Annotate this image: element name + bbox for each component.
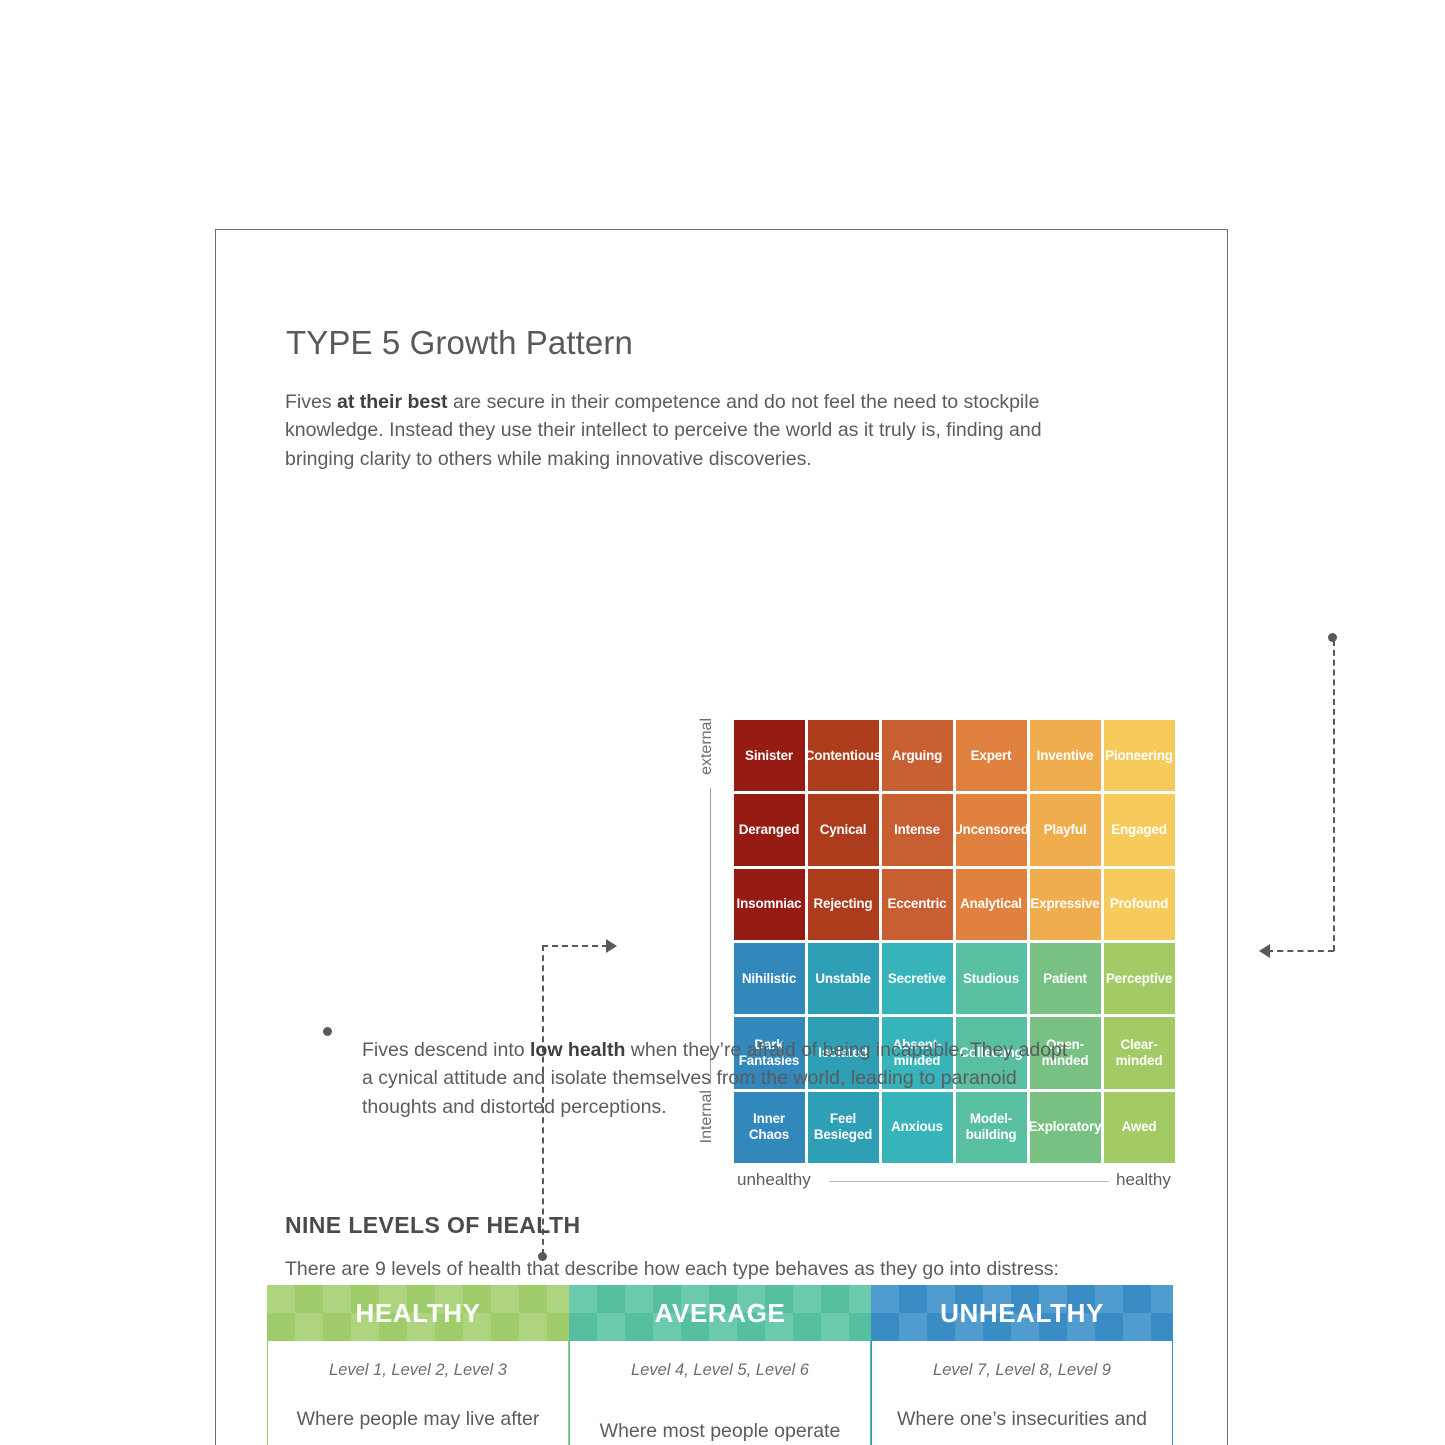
matrix-cell: Secretive [882, 943, 953, 1014]
matrix-cell: Sinister [734, 720, 805, 791]
levels-description-healthy: Where people may live after [268, 1406, 568, 1433]
nine-levels-table: HEALTHYLevel 1, Level 2, Level 3Where pe… [267, 1285, 1173, 1445]
low-health-paragraph: Fives descend into low health when they’… [362, 1036, 1072, 1122]
intro-lead: Fives [285, 391, 337, 413]
levels-range-average: Level 4, Level 5, Level 6 [570, 1361, 870, 1380]
levels-column-healthy: HEALTHYLevel 1, Level 2, Level 3Where pe… [267, 1285, 569, 1445]
x-axis-line [829, 1181, 1109, 1182]
matrix-cell: Profound [1104, 869, 1175, 940]
matrix-cell: Analytical [956, 869, 1027, 940]
low-health-bullet-icon [323, 1027, 332, 1036]
levels-description-unhealthy: Where one’s insecurities and [872, 1406, 1172, 1433]
matrix-cell: Insomniac [734, 869, 805, 940]
matrix-cell: Cynical [808, 794, 879, 865]
levels-description-average: Where most people operate [570, 1418, 870, 1445]
low-health-lead: Fives descend into [362, 1039, 530, 1061]
arrow-left-icon [1259, 944, 1270, 958]
matrix-cell: Intense [882, 794, 953, 865]
matrix-cell: Patient [1030, 943, 1101, 1014]
matrix-row: NihilisticUnstableSecretiveStudiousPatie… [732, 943, 1176, 1017]
connector-vertical-right [1333, 640, 1335, 951]
section-subtitle: There are 9 levels of health that descri… [285, 1258, 1059, 1281]
levels-body-healthy: Level 1, Level 2, Level 3Where people ma… [267, 1341, 569, 1445]
intro-paragraph: Fives at their best are secure in their … [285, 388, 1115, 474]
matrix-cell: Unstable [808, 943, 879, 1014]
matrix-cell: Deranged [734, 794, 805, 865]
matrix-cell: Playful [1030, 794, 1101, 865]
matrix-cell: Awed [1104, 1092, 1175, 1163]
page-title: TYPE 5 Growth Pattern [286, 324, 633, 362]
connector-horizontal-right [1267, 950, 1334, 952]
document-page: TYPE 5 Growth Pattern Fives at their bes… [215, 229, 1228, 1445]
matrix-cell: Arguing [882, 720, 953, 791]
arrow-right-icon [606, 939, 617, 953]
connector-horizontal-left [542, 945, 608, 947]
matrix-cell: Engaged [1104, 794, 1175, 865]
matrix-cell: Expert [956, 720, 1027, 791]
matrix-cell: Pioneering [1104, 720, 1175, 791]
matrix-cell: Clear- minded [1104, 1017, 1175, 1088]
levels-column-average: AVERAGELevel 4, Level 5, Level 6Where mo… [569, 1285, 871, 1445]
matrix-cell: Uncensored [956, 794, 1027, 865]
low-health-bold: low health [530, 1039, 625, 1061]
levels-body-unhealthy: Level 7, Level 8, Level 9Where one’s ins… [871, 1341, 1173, 1445]
levels-range-healthy: Level 1, Level 2, Level 3 [268, 1361, 568, 1380]
matrix-cell: Perceptive [1104, 943, 1175, 1014]
section-heading-nine-levels: NINE LEVELS OF HEALTH [285, 1212, 580, 1239]
axis-label-external: external [698, 718, 716, 775]
matrix-cell: Inventive [1030, 720, 1101, 791]
matrix-cell: Studious [956, 943, 1027, 1014]
levels-header-healthy: HEALTHY [267, 1285, 569, 1341]
levels-header-unhealthy: UNHEALTHY [871, 1285, 1173, 1341]
levels-header-average: AVERAGE [569, 1285, 871, 1341]
matrix-row: DerangedCynicalIntenseUncensoredPlayfulE… [732, 794, 1176, 868]
matrix-cell: Eccentric [882, 869, 953, 940]
matrix-cell: Rejecting [808, 869, 879, 940]
matrix-cell: Expressive [1030, 869, 1101, 940]
levels-body-average: Level 4, Level 5, Level 6Where most peop… [569, 1341, 871, 1445]
intro-bold: at their best [337, 391, 448, 413]
matrix-cell: Contentious [808, 720, 879, 791]
matrix-cell: Nihilistic [734, 943, 805, 1014]
levels-range-unhealthy: Level 7, Level 8, Level 9 [872, 1361, 1172, 1380]
levels-column-unhealthy: UNHEALTHYLevel 7, Level 8, Level 9Where … [871, 1285, 1173, 1445]
matrix-row: SinisterContentiousArguingExpertInventiv… [732, 720, 1176, 794]
axis-label-healthy: healthy [1116, 1170, 1171, 1190]
axis-label-unhealthy: unhealthy [737, 1170, 811, 1190]
matrix-row: InsomniacRejectingEccentricAnalyticalExp… [732, 869, 1176, 943]
